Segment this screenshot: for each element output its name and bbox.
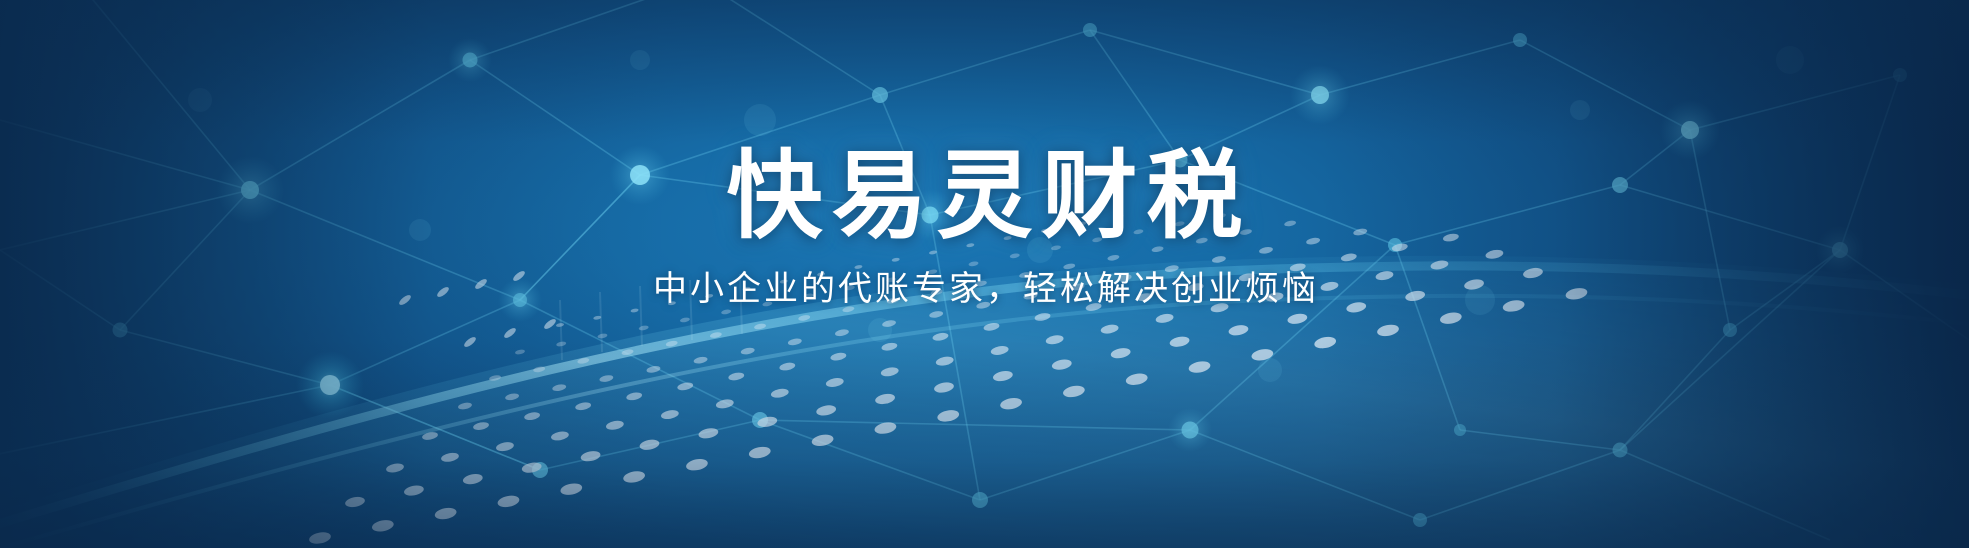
vignette-bottom xyxy=(0,0,1969,548)
hero-banner: 快易灵财税 中小企业的代账专家，轻松解决创业烦恼 xyxy=(0,0,1969,548)
